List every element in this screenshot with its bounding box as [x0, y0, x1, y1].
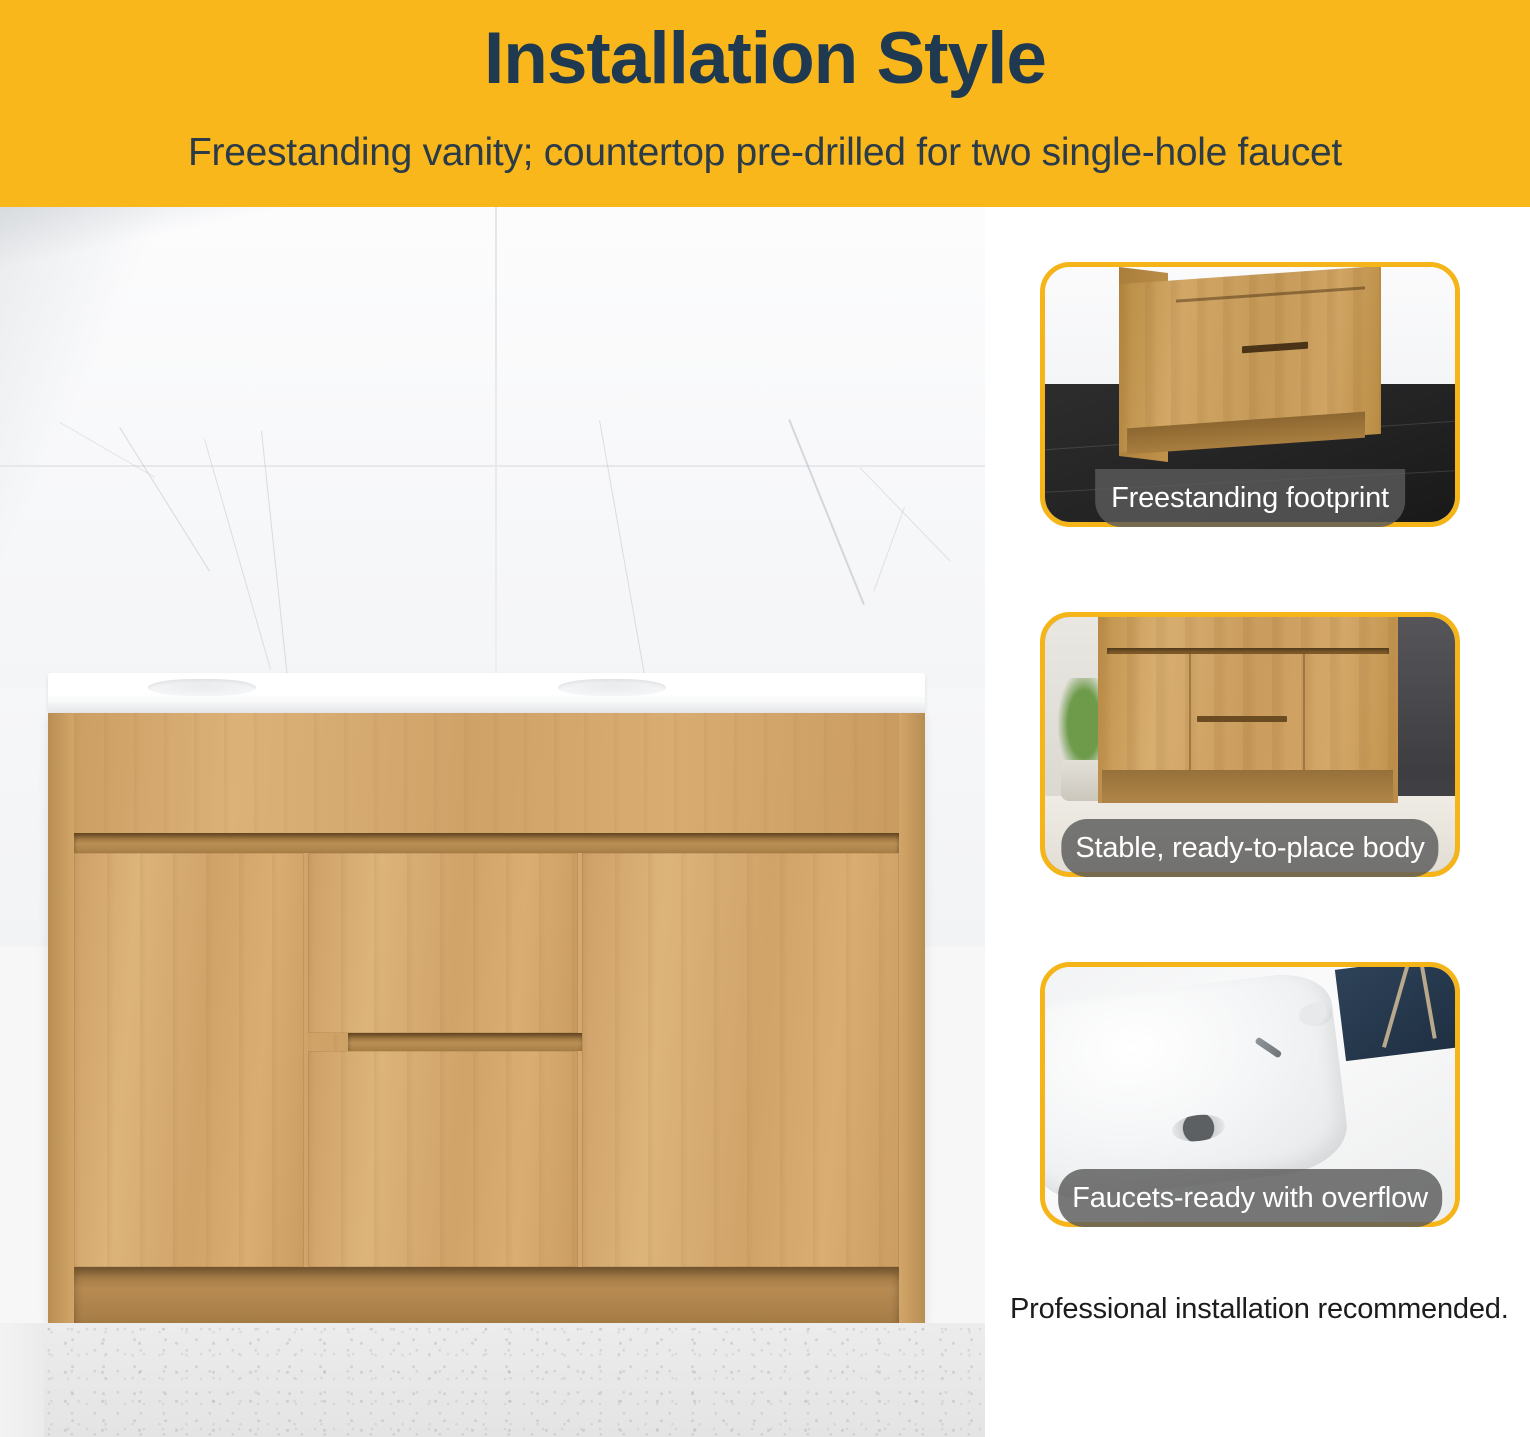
card2-toe-kick — [1102, 770, 1393, 803]
tile-grout-vertical — [495, 207, 497, 687]
drawer-lower-center — [308, 1051, 578, 1267]
footer-note: Professional installation recommended. — [1010, 1293, 1509, 1326]
cabinet-side-left — [48, 713, 74, 1323]
card2-door-seam — [1189, 653, 1191, 770]
tile-grout-horizontal — [0, 465, 985, 467]
cabinet-side-right — [899, 713, 925, 1323]
card-caption-stable-body: Stable, ready-to-place body — [1061, 819, 1438, 877]
terrazzo-floor — [0, 1323, 985, 1437]
card2-upper-groove — [1107, 648, 1390, 654]
card-caption-faucets-ready: Faucets-ready with overflow — [1058, 1169, 1442, 1227]
page-subtitle: Freestanding vanity; countertop pre-dril… — [188, 133, 1342, 172]
floor-wall-corner — [0, 1323, 44, 1437]
basin-left — [148, 679, 256, 696]
feature-card-faucets-ready[interactable]: Faucets-ready with overflow — [1040, 962, 1460, 1227]
drawer-upper-center — [308, 853, 578, 1033]
upper-handle-groove — [74, 833, 899, 853]
feature-card-stable-body[interactable]: Stable, ready-to-place body — [1040, 612, 1460, 877]
feature-cards-panel: Freestanding footprint Stable, ready-to-… — [985, 207, 1530, 1437]
hero-product-image — [0, 207, 985, 1437]
card2-door-seam — [1303, 653, 1305, 770]
basin-right — [558, 679, 666, 696]
door-left — [74, 853, 304, 1267]
card2-handle-slot — [1197, 716, 1287, 722]
feature-card-freestanding-footprint[interactable]: Freestanding footprint — [1040, 262, 1460, 527]
page-title: Installation Style — [484, 22, 1046, 95]
door-right — [582, 853, 899, 1267]
header-banner: Installation Style Freestanding vanity; … — [0, 0, 1530, 207]
toe-kick — [74, 1267, 899, 1323]
upper-drawer-front — [74, 713, 899, 833]
marble-wall — [0, 207, 985, 687]
card-caption-freestanding-footprint: Freestanding footprint — [1095, 469, 1405, 527]
center-handle-groove — [348, 1033, 583, 1051]
